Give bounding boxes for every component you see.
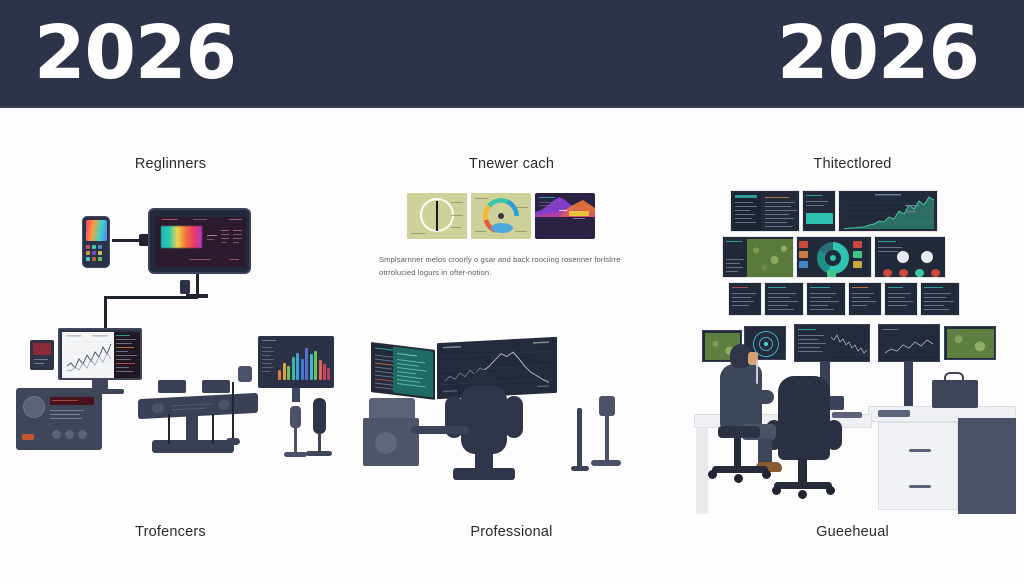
desk-monitor-5-map: [944, 326, 996, 360]
header-year-left: 2026: [34, 14, 236, 92]
card-gauge-clock: [407, 193, 467, 239]
bar-chart-plot: [278, 344, 330, 380]
desk-trading-chart-svg: [829, 331, 869, 359]
console-dial: [23, 396, 45, 418]
desk-base: [152, 440, 234, 453]
desk-monitor-4-chart: [878, 324, 940, 362]
desk-stand: [186, 414, 198, 442]
seat-arm-right: [505, 396, 523, 438]
desk-cabinet-dark[interactable]: [958, 418, 1016, 514]
wall-monitor-3: [838, 190, 938, 232]
stand-block: [180, 280, 190, 294]
column-left-footer: Trofencers: [0, 524, 341, 540]
desk-panel-a: [158, 380, 186, 393]
monitor-base: [76, 389, 124, 394]
empty-chair-backrest: [778, 376, 830, 460]
mic-inline-control: [226, 438, 240, 445]
left-teal-monitor: [393, 347, 433, 398]
pole-stand-base: [571, 466, 589, 471]
radial-gauge-hub: [498, 213, 504, 219]
machine-hose: [411, 426, 469, 434]
desk-cable-a: [168, 414, 170, 444]
instrument-console: [16, 388, 102, 450]
empty-chair-base: [774, 482, 832, 489]
tablet-screen: [155, 217, 246, 267]
wall-panel-2: [764, 282, 804, 316]
column-right: Thitectlored: [682, 108, 1023, 585]
desk-leg-left: [696, 428, 708, 514]
column-middle: Tnewer cach: [341, 108, 682, 585]
keyboard-b[interactable]: [878, 410, 910, 417]
keyboard-a[interactable]: [832, 412, 862, 418]
wall-panel-5: [884, 282, 918, 316]
wall-area-chart-svg: [839, 191, 939, 233]
radial-gauge-pool: [491, 223, 513, 233]
desk-monitor-3-terminal: [794, 324, 870, 362]
gauge-needle: [436, 201, 438, 231]
column-middle-title: Tnewer cach: [341, 156, 682, 172]
card-area-chart: [535, 193, 595, 239]
column-right-title: Thitectlored: [682, 156, 1023, 172]
microphone-stem-a: [294, 428, 297, 454]
microphone-head-a: [290, 406, 301, 428]
desk-panel-b: [202, 380, 230, 393]
bar-monitor-stand: [292, 388, 300, 402]
operator-chair-base: [712, 466, 768, 473]
column-middle-body-text: Smplsarnner melos croorly o gsar and bac…: [379, 253, 631, 279]
column-middle-footer: Professional: [341, 524, 682, 540]
header-bar: 2026 2026: [0, 0, 1024, 108]
wall-monitor-4: [722, 236, 794, 278]
bar-chart-monitor: [258, 336, 334, 388]
seated-person-arm: [746, 390, 774, 404]
microphone-stem-b: [318, 433, 321, 453]
headset-cable: [756, 360, 758, 384]
wall-monitor-6: [874, 236, 946, 278]
operator-chair-post: [734, 438, 741, 468]
operator-chair-seat: [718, 426, 760, 438]
wall-panel-3: [806, 282, 846, 316]
content-area: Reglinners: [0, 108, 1024, 585]
control-desk-surface: [138, 393, 258, 419]
line-chart-monitor: [58, 328, 142, 380]
header-year-right: 2026: [777, 14, 979, 92]
microphone-base-a: [284, 452, 307, 457]
long-cable-horizontal: [104, 296, 198, 299]
console-readout-strip: [50, 397, 94, 405]
column-left: Reglinners: [0, 108, 341, 585]
speaker-stand-stem: [605, 414, 609, 462]
wall-monitor-5-donut: [796, 236, 872, 278]
desk-cable-b: [212, 414, 214, 444]
microphone-base-b: [306, 451, 332, 456]
pole-stand: [577, 408, 582, 470]
slide-canvas: 2026 2026 Reglinners: [0, 0, 1024, 585]
wall-monitor-1: [730, 190, 800, 232]
seat-backrest: [461, 386, 507, 454]
empty-chair-post: [798, 458, 807, 484]
equipment-case-handle: [944, 372, 964, 381]
smartphone-device: [82, 216, 110, 268]
monitor-arm-right: [904, 362, 913, 406]
card-badge: [569, 211, 589, 216]
desk-cabinet-drawers[interactable]: [878, 422, 958, 510]
speaker-stand-base: [591, 460, 621, 466]
machine-coil-stack: [369, 398, 415, 420]
handheld-meter: [30, 340, 54, 370]
tablet-display: [148, 208, 251, 274]
wall-panel-4: [848, 282, 882, 316]
seat-base: [453, 468, 515, 480]
column-left-title: Reglinners: [0, 156, 341, 172]
boom-mic-cable: [232, 382, 234, 440]
machine-vent: [375, 432, 397, 454]
desk-monitor-4-svg: [883, 335, 937, 359]
speaker-stand-head: [599, 396, 615, 416]
wall-monitor-2: [802, 190, 836, 232]
microphone-head-b: [313, 398, 326, 434]
spectrum-visualization: [161, 226, 202, 248]
wall-panel-6: [920, 282, 960, 316]
card-radial-gauge: [471, 193, 531, 239]
equipment-case: [932, 380, 978, 408]
wall-panel-1: [728, 282, 762, 316]
smartphone-screen: [86, 220, 107, 241]
terminal-pane: [114, 332, 140, 378]
column-right-footer: Gueeheual: [682, 524, 1023, 540]
boom-mic-head: [238, 366, 252, 382]
